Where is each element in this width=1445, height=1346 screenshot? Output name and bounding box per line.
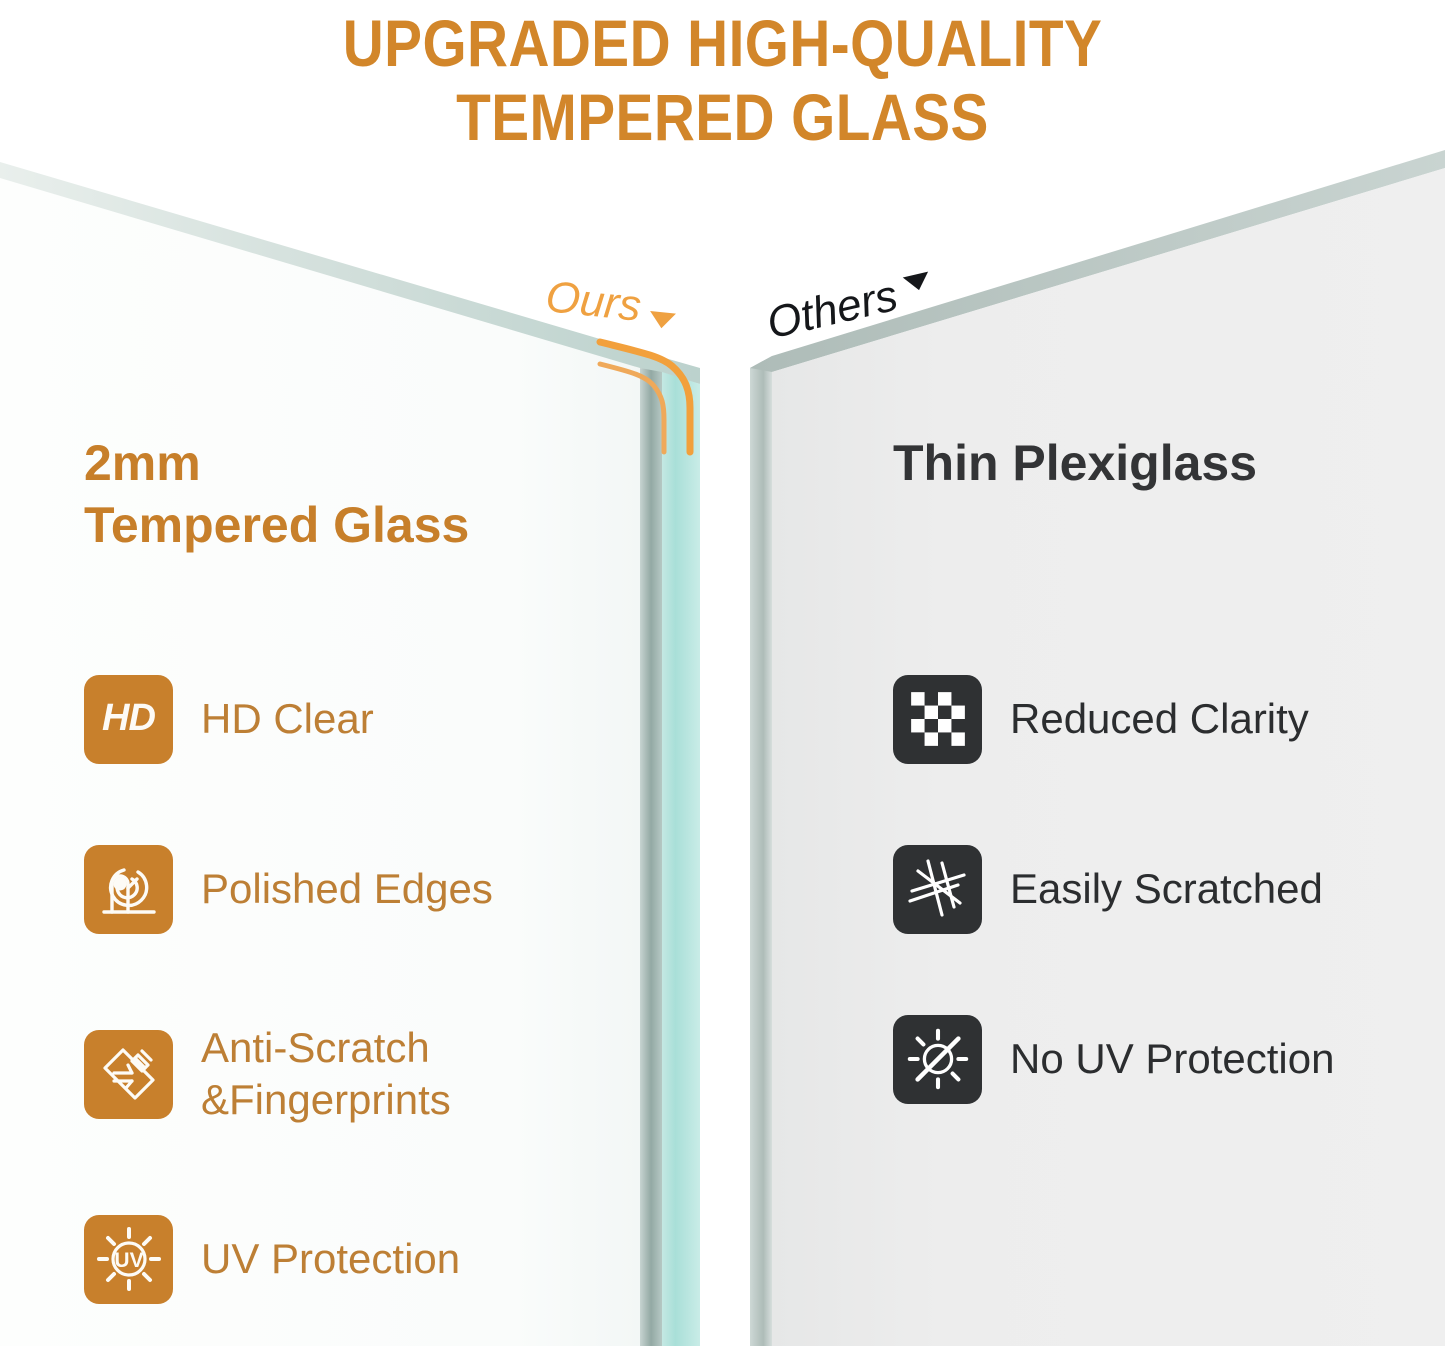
others-heading: Thin Plexiglass xyxy=(893,432,1393,494)
feature-uv-protection: UV UV Protection xyxy=(84,1174,604,1344)
uv-icon-text: UV xyxy=(114,1249,143,1272)
checkerboard-glyph xyxy=(907,688,969,750)
scratch-lines-icon xyxy=(893,845,982,934)
uv-sun-glyph: UV xyxy=(94,1224,164,1294)
others-feature-list: Reduced Clarity Easily Scratched xyxy=(893,634,1393,1144)
feature-no-uv-protection: No UV Protection xyxy=(893,974,1393,1144)
hd-icon: HD xyxy=(84,675,173,764)
polishing-wheel-glyph xyxy=(98,858,160,920)
no-uv-sun-icon xyxy=(893,1015,982,1104)
checkerboard-icon xyxy=(893,675,982,764)
no-uv-sun-glyph xyxy=(904,1025,972,1093)
feature-reduced-clarity: Reduced Clarity xyxy=(893,634,1393,804)
feature-polished-edges: Polished Edges xyxy=(84,804,604,974)
ours-column: 2mm Tempered Glass HD HD Clear xyxy=(84,432,604,1344)
feature-label: HD Clear xyxy=(201,693,374,745)
feature-label: Easily Scratched xyxy=(1010,863,1323,915)
callout-ours-label: Ours xyxy=(543,272,643,332)
plexiglass-edge xyxy=(750,356,772,1346)
cloth-wipe-glyph xyxy=(98,1043,160,1105)
tempered-glass-edge-inner xyxy=(640,368,662,1346)
feature-label: Reduced Clarity xyxy=(1010,693,1309,745)
anti-scratch-cloth-icon xyxy=(84,1030,173,1119)
others-column: Thin Plexiglass xyxy=(893,432,1393,1144)
uv-sun-icon: UV xyxy=(84,1215,173,1304)
feature-anti-scratch: Anti-Scratch &Fingerprints xyxy=(84,974,604,1174)
feature-hd-clear: HD HD Clear xyxy=(84,634,604,804)
polishing-wheel-icon xyxy=(84,845,173,934)
triangle-down-icon xyxy=(903,272,932,293)
feature-label: Polished Edges xyxy=(201,863,493,915)
tempered-glass-edge-core xyxy=(662,372,700,1346)
feature-label: UV Protection xyxy=(201,1233,460,1285)
feature-label: No UV Protection xyxy=(1010,1033,1334,1085)
feature-label: Anti-Scratch &Fingerprints xyxy=(201,1022,451,1126)
ours-feature-list: HD HD Clear xyxy=(84,634,604,1344)
infographic-canvas: UPGRADED HIGH-QUALITY TEMPERED GLASS Our… xyxy=(0,0,1445,1346)
page-title: UPGRADED HIGH-QUALITY TEMPERED GLASS xyxy=(101,0,1344,154)
ours-heading: 2mm Tempered Glass xyxy=(84,432,604,556)
scratch-lines-glyph xyxy=(906,857,970,921)
feature-easily-scratched: Easily Scratched xyxy=(893,804,1393,974)
triangle-down-icon xyxy=(649,311,677,330)
hd-icon-text: HD xyxy=(102,697,155,740)
